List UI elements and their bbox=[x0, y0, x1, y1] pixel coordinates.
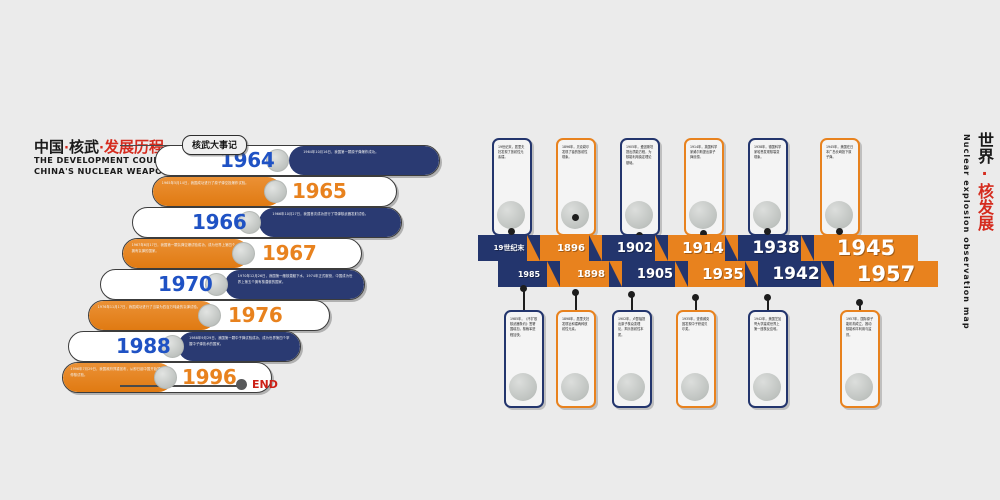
row-description: 1988年9月29日，我国第一颗中子弹试验成功，成为世界第四个掌握中子弹技术的国… bbox=[189, 336, 292, 347]
card-disc bbox=[497, 201, 525, 229]
row-description: 1966年10月27日，我国首次成功进行了导弹核武器发射试验。 bbox=[272, 212, 391, 218]
row-description: 1970年12月26日，我国第一艘核潜艇下水，1974年正式服役，中国成为世界上… bbox=[238, 274, 355, 285]
right-title-block: 世界·核发展 Nuclear explosion observation map bbox=[922, 132, 996, 302]
event-card[interactable]: 19世纪末，居里夫妇发现了放射性元素镭。 bbox=[492, 138, 532, 236]
left-title-chinese: 中国·核武·发展历程 bbox=[34, 136, 164, 157]
row-description: 1996年7月29日，我国政府郑重宣布，从即日起中国开始暂停核试验。 bbox=[70, 367, 162, 378]
card-disc bbox=[509, 373, 537, 401]
card-disc bbox=[753, 201, 781, 229]
ribbon-label: 1945 bbox=[837, 236, 895, 260]
row-knob[interactable] bbox=[264, 180, 287, 203]
card-text: 1942年，美国芝加哥大学建成世界上第一座核反应堆。 bbox=[754, 317, 782, 333]
card-text: 1938年，德国科学家哈恩发现核裂变现象。 bbox=[754, 145, 782, 161]
timeline-row[interactable]: 1970年12月26日，我国第一艘核潜艇下水，1974年正式服役，中国成为世界上… bbox=[100, 269, 365, 300]
card-connector bbox=[859, 302, 861, 310]
right-title-english: Nuclear explosion observation map bbox=[961, 134, 972, 330]
ribbon-label: 1898 bbox=[577, 269, 605, 280]
event-card[interactable]: 1957年，国际原子能机构成立，推动核能和平利用与监督。 bbox=[840, 310, 880, 408]
left-title-part-0: 中国 bbox=[34, 138, 64, 156]
card-connector bbox=[695, 297, 697, 310]
card-disc bbox=[561, 373, 589, 401]
card-disc bbox=[681, 373, 709, 401]
card-disc bbox=[625, 201, 653, 229]
card-connector-dot bbox=[572, 214, 579, 221]
ribbon-label: 1935 bbox=[702, 265, 744, 283]
row-year: 1965 bbox=[292, 179, 346, 203]
row-year: 1967 bbox=[262, 241, 316, 265]
card-connector-dot bbox=[836, 228, 843, 235]
ribbon-label: 1914 bbox=[682, 239, 724, 257]
event-card[interactable]: 1914年，英国科学家威尔斯提出原子弹设想。 bbox=[684, 138, 724, 236]
row-knob[interactable] bbox=[198, 304, 221, 327]
ribbon-label: 1905 bbox=[637, 267, 673, 282]
card-text: 1985年，《不扩散核武器条约》签署国增加，核裁军进程加快。 bbox=[510, 317, 538, 338]
card-text: 1898年，居里夫妇发现钍和镭两种放射性元素。 bbox=[562, 317, 590, 333]
event-card[interactable]: 1945年，美国在日本广岛长崎投下原子弹。 bbox=[820, 138, 860, 236]
ribbon-label: 1957 bbox=[857, 262, 915, 286]
row-description: 1967年6月17日，我国第一颗氢弹空爆试验成功，成为世界上第四个拥有氢弹的国家… bbox=[132, 243, 238, 254]
timeline-badge: 核武大事记 bbox=[182, 135, 247, 155]
event-card[interactable]: 1896年，贝克勒尔发现了铀的放射性现象。 bbox=[556, 138, 596, 236]
card-text: 1957年，国际原子能机构成立，推动核能和平利用与监督。 bbox=[846, 317, 874, 338]
card-disc bbox=[689, 201, 717, 229]
card-connector bbox=[575, 292, 577, 310]
event-card[interactable]: 1985年，《不扩散核武器条约》签署国增加，核裁军进程加快。 bbox=[504, 310, 544, 408]
ribbon-label: 1938 bbox=[752, 238, 799, 258]
china-nuclear-timeline-panel: 中国·核武·发展历程 THE DEVELOPMENT COURSE OF CHI… bbox=[0, 0, 470, 500]
card-text: 1935年，查德威克因发现中子获诺贝尔奖。 bbox=[682, 317, 710, 333]
row-year: 1970 bbox=[158, 272, 212, 296]
right-title-part-0: 世界 bbox=[975, 132, 994, 164]
card-text: 1896年，贝克勒尔发现了铀的放射性现象。 bbox=[562, 145, 590, 161]
bottom-ribbon: 1985 1898 1905 1935 1942 1957 bbox=[498, 261, 938, 287]
card-disc bbox=[845, 373, 873, 401]
right-title-part-2: 核发展 bbox=[975, 183, 994, 231]
ribbon-label: 1942 bbox=[772, 264, 819, 284]
event-card[interactable]: 1942年，美国芝加哥大学建成世界上第一座核反应堆。 bbox=[748, 310, 788, 408]
card-disc bbox=[825, 201, 853, 229]
card-connector bbox=[523, 288, 525, 310]
card-text: 1905年，爱因斯坦提出质能方程，为核能利用奠定理论基础。 bbox=[626, 145, 654, 166]
end-label: END bbox=[252, 378, 278, 391]
right-title-chinese: 世界·核发展 bbox=[975, 132, 994, 231]
card-connector bbox=[631, 294, 633, 310]
timeline-row[interactable]: 1965年5月14日，我国成功进行了原子弹空投爆炸试验。 1965 bbox=[152, 176, 397, 207]
end-dot bbox=[236, 379, 247, 390]
ribbon-segment[interactable]: 1945 bbox=[814, 235, 918, 261]
ribbon-label: 19世纪末 bbox=[494, 243, 525, 253]
card-disc bbox=[753, 373, 781, 401]
timeline-row[interactable]: 1966年10月27日，我国首次成功进行了导弹核武器发射试验。 1966 bbox=[132, 207, 402, 238]
event-card[interactable]: 1905年，爱因斯坦提出质能方程，为核能利用奠定理论基础。 bbox=[620, 138, 660, 236]
card-text: 1914年，英国科学家威尔斯提出原子弹设想。 bbox=[690, 145, 718, 161]
row-year: 1966 bbox=[192, 210, 246, 234]
card-text: 19世纪末，居里夫妇发现了放射性元素镭。 bbox=[498, 145, 526, 161]
world-nuclear-timeline-panel: 19世纪末，居里夫妇发现了放射性元素镭。 1896年，贝克勒尔发现了铀的放射性现… bbox=[470, 0, 1000, 500]
card-disc bbox=[617, 373, 645, 401]
card-connector-dot bbox=[764, 228, 771, 235]
infographic-canvas: 中国·核武·发展历程 THE DEVELOPMENT COURSE OF CHI… bbox=[0, 0, 1000, 500]
ribbon-label: 1896 bbox=[557, 243, 585, 254]
card-connector bbox=[767, 297, 769, 310]
top-ribbon: 19世纪末 1896 1902 1914 1938 1945 bbox=[478, 235, 918, 261]
row-year: 1996 bbox=[182, 365, 236, 389]
card-text: 1945年，美国在日本广岛长崎投下原子弹。 bbox=[826, 145, 854, 161]
card-text: 1902年，卢瑟福提出原子核衰变理论，揭示放射性本质。 bbox=[618, 317, 646, 338]
event-card[interactable]: 1938年，德国科学家哈恩发现核裂变现象。 bbox=[748, 138, 788, 236]
row-knob[interactable] bbox=[154, 366, 177, 389]
row-year: 1976 bbox=[228, 303, 282, 327]
event-card[interactable]: 1898年，居里夫妇发现钍和镭两种放射性元素。 bbox=[556, 310, 596, 408]
ribbon-label: 1902 bbox=[617, 241, 653, 256]
event-card[interactable]: 1902年，卢瑟福提出原子核衰变理论，揭示放射性本质。 bbox=[612, 310, 652, 408]
event-card[interactable]: 1935年，查德威克因发现中子获诺贝尔奖。 bbox=[676, 310, 716, 408]
card-connector-dot bbox=[508, 228, 515, 235]
timeline-row[interactable]: 1988年9月29日，我国第一颗中子弹试验成功，成为世界第四个掌握中子弹技术的国… bbox=[68, 331, 301, 362]
row-description: 1964年10月16日，我国第一颗原子弹爆炸成功。 bbox=[303, 150, 428, 156]
row-knob[interactable] bbox=[232, 242, 255, 265]
timeline-row[interactable]: 1976年11月17日，我国成功进行了当量为四百万吨级的氢弹试验。 1976 bbox=[88, 300, 330, 331]
row-year: 1988 bbox=[116, 334, 170, 358]
row-description: 1965年5月14日，我国成功进行了原子弹空投爆炸试验。 bbox=[162, 181, 270, 187]
left-title-part-2: 核武 bbox=[69, 138, 99, 156]
right-title-part-1: · bbox=[975, 164, 994, 183]
ribbon-label: 1985 bbox=[518, 270, 540, 279]
row-description: 1976年11月17日，我国成功进行了当量为四百万吨级的氢弹试验。 bbox=[98, 305, 205, 311]
timeline-row[interactable]: 1967年6月17日，我国第一颗氢弹空爆试验成功，成为世界上第四个拥有氢弹的国家… bbox=[122, 238, 362, 269]
